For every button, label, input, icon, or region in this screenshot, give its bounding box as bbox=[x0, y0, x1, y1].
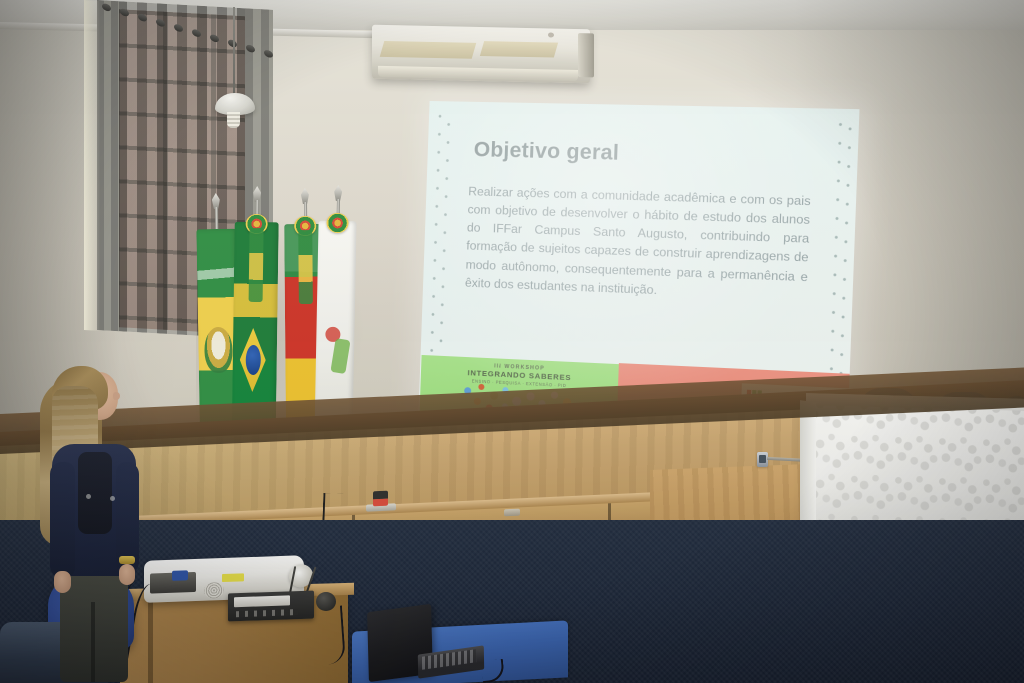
pendant-lamp-bulb bbox=[227, 112, 240, 128]
slide-body-text: Realizar ações com a comunidade acadêmic… bbox=[465, 182, 811, 305]
curtain-light-edge bbox=[84, 0, 100, 331]
presenter-jacket-button bbox=[110, 496, 115, 501]
presenter-left-hand bbox=[54, 571, 71, 593]
ac-vent bbox=[380, 41, 477, 59]
projector-asset-label bbox=[222, 573, 244, 582]
receiver-controls[interactable] bbox=[236, 609, 298, 617]
presenter-inner-shirt bbox=[78, 452, 112, 534]
presenter-face-profile bbox=[113, 392, 120, 400]
slide-title: Objetivo geral bbox=[473, 138, 619, 166]
stage-floor-plate bbox=[504, 509, 520, 517]
flag-ribbon bbox=[249, 228, 264, 302]
ac-wall-mark bbox=[548, 32, 554, 37]
ceiling-air-conditioner bbox=[372, 25, 590, 84]
curtain-left-panel bbox=[97, 0, 119, 331]
auditorium-photo: Objetivo geral Realizar ações com a comu… bbox=[0, 0, 1024, 683]
wireless-receiver bbox=[228, 590, 314, 621]
receiver-display-panel bbox=[234, 595, 290, 607]
presenter-left-arm bbox=[50, 462, 75, 578]
flag-crest bbox=[204, 327, 233, 373]
presenter-wristwatch bbox=[119, 556, 135, 564]
presenter bbox=[34, 366, 146, 683]
ac-vent bbox=[480, 41, 558, 57]
pendant-lamp-cord bbox=[233, 7, 235, 95]
projector-vga-connector bbox=[172, 570, 188, 581]
flag-ribbon bbox=[298, 230, 313, 304]
presenter-jacket-button bbox=[86, 494, 91, 499]
ac-end-cap bbox=[578, 33, 594, 77]
presenter-leg-separation bbox=[91, 602, 95, 682]
presenter-right-hand bbox=[119, 564, 135, 585]
